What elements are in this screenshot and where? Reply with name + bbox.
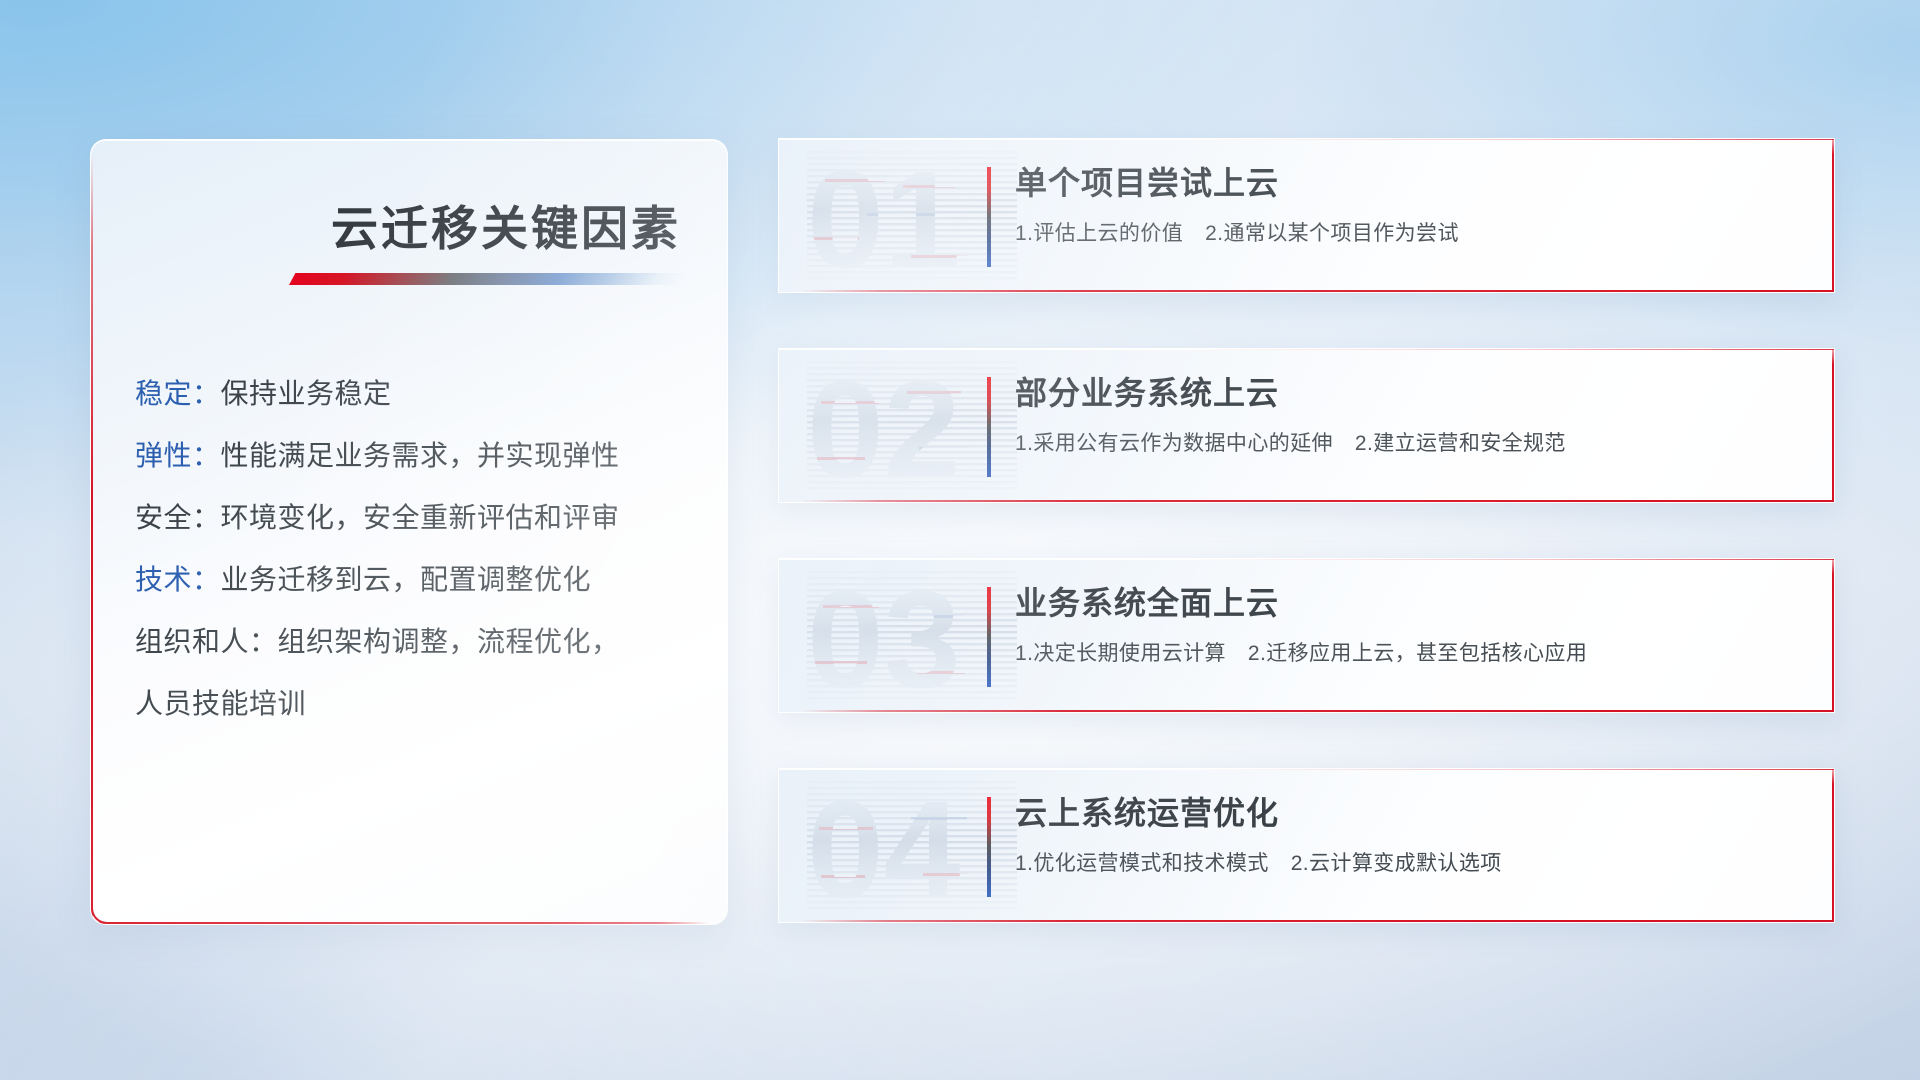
factor-label: 组织和人： <box>135 626 278 657</box>
card-accent-bar <box>987 797 991 897</box>
card-title: 云上系统运营优化 <box>1015 787 1808 839</box>
factor-text: 业务迁移到云，配置调整优化 <box>221 564 592 595</box>
stage-card[interactable]: 01 单个项目尝试上云 <box>778 138 1835 293</box>
factor-text: 保持业务稳定 <box>221 378 392 409</box>
card-top-accent-edge <box>1180 349 1834 350</box>
stage-number-watermark: 01 <box>807 151 1017 283</box>
card-right-accent-edge <box>1832 139 1834 292</box>
slide-root: 云迁移关键因素 稳定：保持业务稳定 弹性：性能满足业务需求，并实现弹性 安全：环… <box>0 0 1920 1080</box>
card-point-1: 1.采用公有云作为数据中心的延伸 <box>1015 432 1333 455</box>
card-subtitle: 1.优化运营模式和技术模式2.云计算变成默认选项 <box>1015 849 1808 879</box>
title-underline-bar <box>289 273 687 285</box>
list-item: 弹性：性能满足业务需求，并实现弹性 <box>135 425 693 487</box>
card-accent-bar <box>987 587 991 687</box>
panel-corner-accent <box>91 886 129 924</box>
stage-number-watermark: 02 <box>807 361 1017 493</box>
card-title: 业务系统全面上云 <box>1015 577 1808 629</box>
card-bottom-accent-edge <box>801 500 1834 502</box>
card-subtitle: 1.评估上云的价值2.通常以某个项目作为尝试 <box>1015 219 1808 249</box>
factor-text: 组织架构调整，流程优化， <box>278 626 620 657</box>
card-point-1: 1.决定长期使用云计算 <box>1015 642 1226 665</box>
panel-left-accent-edge <box>91 154 93 924</box>
card-text-block: 单个项目尝试上云 1.评估上云的价值2.通常以某个项目作为尝试 <box>1015 157 1808 249</box>
card-top-accent-edge <box>1180 139 1834 140</box>
factor-label: 弹性： <box>135 440 221 471</box>
factor-text: 性能满足业务需求，并实现弹性 <box>221 440 620 471</box>
card-title: 部分业务系统上云 <box>1015 367 1808 419</box>
card-subtitle: 1.决定长期使用云计算2.迁移应用上云，甚至包括核心应用 <box>1015 639 1808 669</box>
list-item-continuation: 人员技能培训 <box>135 673 693 735</box>
card-bottom-accent-edge <box>801 290 1834 292</box>
list-item: 组织和人：组织架构调整，流程优化， <box>135 611 693 673</box>
card-accent-bar <box>987 377 991 477</box>
panel-bottom-accent-edge <box>91 922 709 924</box>
card-top-accent-edge <box>1180 769 1834 770</box>
card-right-accent-edge <box>1832 769 1834 922</box>
card-point-1: 1.优化运营模式和技术模式 <box>1015 852 1269 875</box>
card-top-accent-edge <box>1180 559 1834 560</box>
page-title: 云迁移关键因素 <box>91 190 681 259</box>
card-text-block: 业务系统全面上云 1.决定长期使用云计算2.迁移应用上云，甚至包括核心应用 <box>1015 577 1808 669</box>
stage-card-list: 01 单个项目尝试上云 <box>778 138 1835 978</box>
factor-label: 技术： <box>135 564 221 595</box>
stage-card[interactable]: 04 云上系统运营优化 1.优化运 <box>778 768 1835 923</box>
factor-text-continuation: 人员技能培训 <box>135 688 306 719</box>
card-point-2: 2.云计算变成默认选项 <box>1291 852 1502 875</box>
card-text-block: 部分业务系统上云 1.采用公有云作为数据中心的延伸2.建立运营和安全规范 <box>1015 367 1808 459</box>
list-item: 安全：环境变化，安全重新评估和评审 <box>135 487 693 549</box>
key-factors-panel: 云迁移关键因素 稳定：保持业务稳定 弹性：性能满足业务需求，并实现弹性 安全：环… <box>90 139 728 925</box>
card-subtitle: 1.采用公有云作为数据中心的延伸2.建立运营和安全规范 <box>1015 429 1808 459</box>
factor-label: 稳定： <box>135 378 221 409</box>
card-title: 单个项目尝试上云 <box>1015 157 1808 209</box>
card-bottom-accent-edge <box>801 920 1834 922</box>
stage-card[interactable]: 02 部分业务系统上云 1.采用公 <box>778 348 1835 503</box>
stage-number-watermark: 04 <box>807 781 1017 913</box>
card-point-2: 2.通常以某个项目作为尝试 <box>1205 222 1459 245</box>
card-right-accent-edge <box>1832 559 1834 712</box>
card-bottom-accent-edge <box>801 710 1834 712</box>
card-point-1: 1.评估上云的价值 <box>1015 222 1183 245</box>
list-item: 技术：业务迁移到云，配置调整优化 <box>135 549 693 611</box>
stage-number-watermark: 03 <box>807 571 1017 703</box>
factor-list: 稳定：保持业务稳定 弹性：性能满足业务需求，并实现弹性 安全：环境变化，安全重新… <box>135 363 693 735</box>
card-text-block: 云上系统运营优化 1.优化运营模式和技术模式2.云计算变成默认选项 <box>1015 787 1808 879</box>
stage-card[interactable]: 03 业务系统全面上云 1.决定长 <box>778 558 1835 713</box>
card-point-2: 2.迁移应用上云，甚至包括核心应用 <box>1248 642 1587 665</box>
card-accent-bar <box>987 167 991 267</box>
card-right-accent-edge <box>1832 349 1834 502</box>
factor-label: 安全： <box>135 502 221 533</box>
card-point-2: 2.建立运营和安全规范 <box>1355 432 1566 455</box>
list-item: 稳定：保持业务稳定 <box>135 363 693 425</box>
factor-text: 环境变化，安全重新评估和评审 <box>221 502 620 533</box>
